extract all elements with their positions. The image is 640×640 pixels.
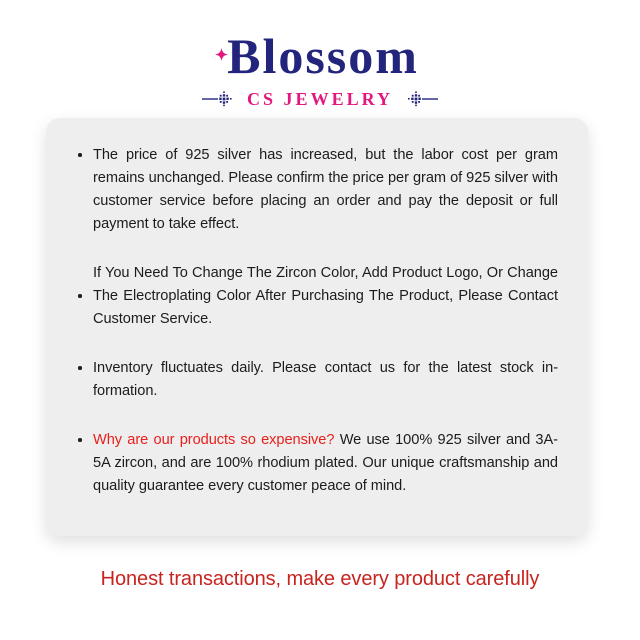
notice-item-inventory: Inventory fluctuates daily. Please conta… bbox=[76, 357, 558, 403]
notice-item-price: The price of 925 silver has increased, b… bbox=[76, 144, 558, 236]
brand-tagline-row: CS JEWELRY bbox=[0, 89, 640, 110]
bullet-icon bbox=[78, 153, 82, 157]
notice-list: The price of 925 silver has increased, b… bbox=[76, 144, 558, 498]
notice-item-pricing-explanation: Why are our products so expensive? We us… bbox=[76, 429, 558, 498]
notice-text: If You Need To Change The Zircon Color, … bbox=[93, 265, 558, 327]
brand-tagline: CS JEWELRY bbox=[247, 89, 393, 110]
brand-header: Blossom bbox=[0, 0, 640, 110]
brand-name: Blossom bbox=[221, 30, 419, 83]
notice-card: The price of 925 silver has increased, b… bbox=[46, 118, 588, 536]
notice-item-customization: If You Need To Change The Zircon Color, … bbox=[76, 262, 558, 331]
notice-text: Inventory fluctuates daily. Please conta… bbox=[93, 360, 558, 399]
brand-logo: Blossom bbox=[221, 30, 419, 83]
bullet-icon bbox=[78, 366, 82, 370]
notice-text: The price of 925 silver has increased, b… bbox=[93, 147, 558, 232]
bullet-icon bbox=[78, 438, 82, 442]
bullet-icon bbox=[78, 294, 82, 298]
notice-highlight: Why are our products so expensive? bbox=[93, 432, 334, 448]
footer-slogan: Honest transactions, make every product … bbox=[0, 568, 640, 591]
snowflake-ornament-icon-right bbox=[398, 90, 438, 108]
snowflake-ornament-icon-left bbox=[202, 90, 242, 108]
